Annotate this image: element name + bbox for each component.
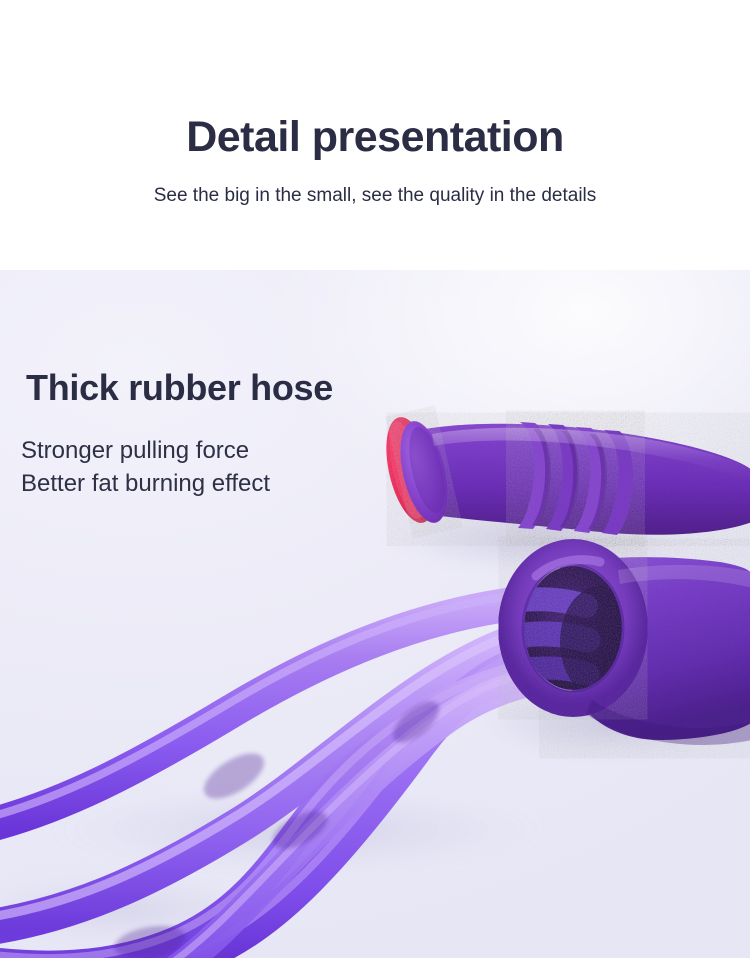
purple-foam-handle (377, 412, 750, 535)
page-title: Detail presentation (0, 112, 750, 162)
page-subtitle: See the big in the small, see the qualit… (0, 183, 750, 209)
feature-benefit-line-1: Stronger pulling force (21, 434, 270, 467)
header-band: Detail presentation See the big in the s… (0, 0, 750, 270)
feature-benefit-list: Stronger pulling force Better fat burnin… (21, 434, 270, 500)
feature-heading: Thick rubber hose (26, 366, 333, 410)
product-detail-page: Detail presentation See the big in the s… (0, 0, 750, 964)
feature-benefit-line-2: Better fat burning effect (21, 467, 270, 500)
product-photo-panel: Thick rubber hose Stronger pulling force… (0, 270, 750, 958)
bottom-white-strip (0, 958, 750, 964)
twisted-rubber-tubes (0, 593, 582, 958)
